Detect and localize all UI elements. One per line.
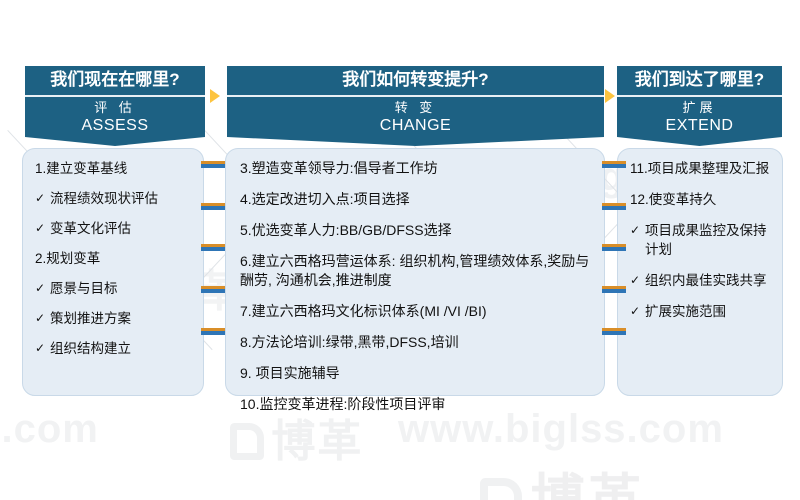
connector-bar-icon (602, 286, 626, 293)
watermark-brand-2: 博革 (480, 455, 645, 500)
check-icon: ✓ (35, 279, 50, 298)
phase-name-en-change: CHANGE (227, 116, 604, 135)
list-item: 6.建立六西格玛营运体系: 组织机构,管理绩效体系,奖励与酬劳, 沟通机会,推进… (240, 252, 590, 290)
list-item: ✓扩展实施范围 (630, 302, 774, 321)
phase-name-cn-assess: 评 估 (25, 100, 205, 116)
list-item: 12.使变革持久 (630, 190, 774, 209)
phase-banner-assess: 我们现在在哪里? 评 估 ASSESS (25, 66, 205, 146)
list-item: 2.规划变革 (35, 249, 195, 268)
connector-bar-icon (201, 286, 225, 293)
phase-name-cn-extend: 扩展 (617, 100, 782, 116)
connector-bar-icon (201, 328, 225, 335)
phase-question-assess: 我们现在在哪里? (25, 66, 205, 97)
connector-bar-icon (201, 161, 225, 168)
phase-name-en-assess: ASSESS (25, 116, 205, 135)
connector-bar-icon (201, 244, 225, 251)
phase-question-change: 我们如何转变提升? (227, 66, 604, 97)
list-item: ✓项目成果监控及保持计划 (630, 221, 774, 259)
check-icon: ✓ (35, 309, 50, 328)
phase-panel-extend: 11.项目成果整理及汇报 12.使变革持久 ✓项目成果监控及保持计划 ✓组织内最… (617, 148, 783, 396)
list-item: ✓组织内最佳实践共享 (630, 271, 774, 290)
list-item: 8.方法论培训:绿带,黑带,DFSS,培训 (240, 333, 590, 352)
list-item: ✓愿景与目标 (35, 279, 195, 298)
watermark-brand-1: 博革 (230, 405, 363, 469)
check-icon: ✓ (35, 339, 50, 358)
check-icon: ✓ (630, 221, 645, 240)
list-item: 4.选定改进切入点:项目选择 (240, 190, 590, 209)
phase-panel-assess: 1.建立变革基线 ✓流程绩效现状评估 ✓变革文化评估 2.规划变革 ✓愿景与目标… (22, 148, 204, 396)
biglss-logo-icon (230, 423, 264, 459)
phase-panel-change: 3.塑造变革领导力:倡导者工作坊 4.选定改进切入点:项目选择 5.优选变革人力… (225, 148, 605, 396)
list-item: ✓流程绩效现状评估 (35, 189, 195, 208)
connector-bar-icon (602, 328, 626, 335)
check-icon: ✓ (630, 302, 645, 321)
connector-bar-icon (602, 161, 626, 168)
list-item: 10.监控变革进程:阶段性项目评审 (240, 395, 590, 414)
check-icon: ✓ (35, 189, 50, 208)
phase-question-extend: 我们到达了哪里? (617, 66, 782, 97)
slide-canvas: ss.com www.biglss.com www.biglss.com 博革 … (0, 0, 800, 500)
phase-banner-extend: 我们到达了哪里? 扩展 EXTEND (617, 66, 782, 146)
biglss-logo-icon (480, 478, 522, 500)
phase-name-en-extend: EXTEND (617, 116, 782, 135)
watermark-url-left: ss.com (0, 407, 99, 452)
connector-bar-icon (201, 203, 225, 210)
check-icon: ✓ (35, 219, 50, 238)
phase-banner-change: 我们如何转变提升? 转 变 CHANGE (227, 66, 604, 146)
banner-chevron-extend (617, 137, 782, 146)
list-item: ✓组织结构建立 (35, 339, 195, 358)
list-item: ✓策划推进方案 (35, 309, 195, 328)
list-item: 9. 项目实施辅导 (240, 364, 590, 383)
check-icon: ✓ (630, 271, 645, 290)
list-item: ✓变革文化评估 (35, 219, 195, 238)
list-item: 5.优选变革人力:BB/GB/DFSS选择 (240, 221, 590, 240)
connector-bar-icon (602, 203, 626, 210)
flow-arrow-icon-2 (605, 89, 615, 103)
connector-bar-icon (602, 244, 626, 251)
list-item: 11.项目成果整理及汇报 (630, 159, 774, 178)
banner-chevron-change (227, 137, 604, 146)
list-item: 7.建立六西格玛文化标识体系(MI /VI /BI) (240, 302, 590, 321)
flow-arrow-icon-1 (210, 89, 220, 103)
phase-name-cn-change: 转 变 (227, 100, 604, 116)
list-item: 1.建立变革基线 (35, 159, 195, 178)
list-item: 3.塑造变革领导力:倡导者工作坊 (240, 159, 590, 178)
banner-chevron-assess (25, 137, 205, 146)
